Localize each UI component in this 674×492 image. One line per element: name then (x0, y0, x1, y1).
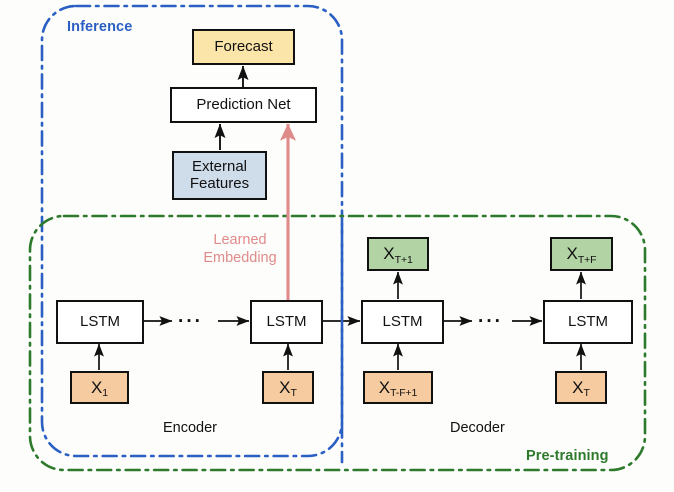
encoder-ellipsis: ··· (178, 312, 203, 331)
encoder-section-label: Encoder (163, 420, 217, 436)
decoder-input-xtf1[interactable]: XT-F+1 (363, 371, 433, 404)
decoder-output-xtf[interactable]: XT+F (550, 237, 613, 271)
decoder-section-label: Decoder (450, 420, 505, 436)
decoder-lstm-cell-first[interactable]: LSTM (361, 300, 444, 344)
decoder-lstm-cell-last[interactable]: LSTM (543, 300, 633, 344)
inference-region-label: Inference (67, 19, 132, 35)
decoder-output-xtf-label: XT+F (566, 244, 596, 263)
decoder-input-xtf1-label: XT-F+1 (379, 378, 418, 397)
encoder-input-x1[interactable]: X1 (70, 371, 129, 404)
decoder-input-xt-label: XT (572, 378, 590, 397)
encoder-input-x1-label: X1 (91, 378, 108, 397)
decoder-output-xt1-label: XT+1 (383, 244, 412, 263)
decoder-input-xt[interactable]: XT (555, 371, 607, 404)
forecast-box[interactable]: Forecast (192, 29, 295, 65)
encoder-lstm-cell-first[interactable]: LSTM (56, 300, 144, 344)
prediction-net-box[interactable]: Prediction Net (170, 87, 317, 123)
decoder-ellipsis: ··· (478, 312, 503, 331)
diagram-canvas: Inference Pre-training (0, 0, 674, 492)
decoder-output-xt1[interactable]: XT+1 (367, 237, 429, 271)
learned-embedding-label: Learned Embedding (197, 231, 283, 267)
external-features-box[interactable]: External Features (172, 151, 267, 200)
encoder-input-xt-label: XT (279, 378, 297, 397)
pretraining-region-label: Pre-training (526, 448, 609, 464)
encoder-lstm-cell-last[interactable]: LSTM (250, 300, 323, 344)
encoder-input-xt[interactable]: XT (262, 371, 314, 404)
